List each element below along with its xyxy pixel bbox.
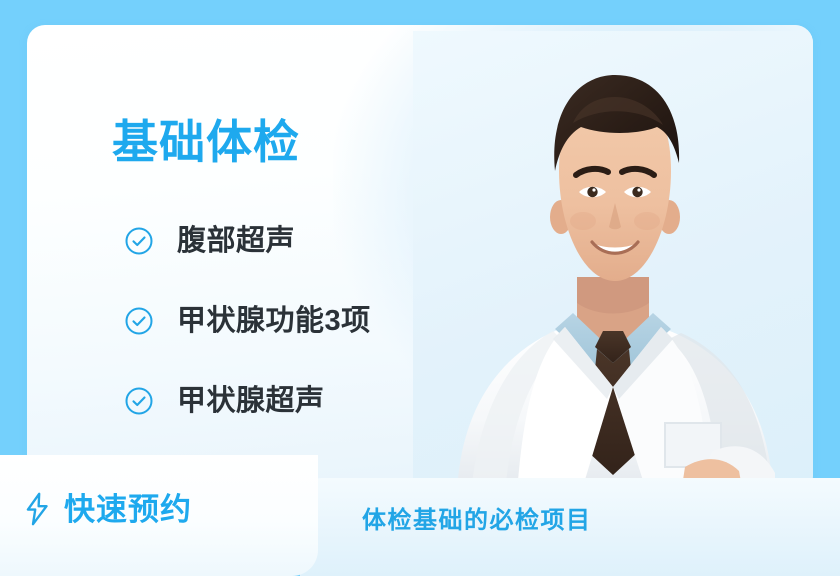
doctor-portrait xyxy=(413,31,813,493)
list-item: 甲状腺功能3项 xyxy=(124,295,371,347)
list-item: 腹部超声 xyxy=(124,215,371,267)
lightning-bolt-icon xyxy=(24,492,51,526)
quick-booking-panel[interactable]: 快速预约 xyxy=(0,455,318,576)
check-circle-icon xyxy=(124,306,154,336)
feature-list: 腹部超声 甲状腺功能3项 甲状腺超声 xyxy=(124,215,371,427)
check-circle-icon xyxy=(124,386,154,416)
quick-booking-content: 快速预约 xyxy=(24,492,192,526)
list-item-label: 甲状腺功能3项 xyxy=(177,307,371,336)
list-item: 甲状腺超声 xyxy=(124,375,371,427)
check-circle-icon xyxy=(124,226,154,256)
promo-poster: 基础体检 腹部超声 甲状腺功能3项 xyxy=(0,0,840,576)
list-item-label: 甲状腺超声 xyxy=(177,387,325,416)
footer-tagline: 体检基础的必检项目 xyxy=(362,509,592,533)
doctor-illustration xyxy=(413,31,813,493)
list-item-label: 腹部超声 xyxy=(177,227,295,256)
poster-card: 基础体检 腹部超声 甲状腺功能3项 xyxy=(27,25,813,493)
footer-tagline-panel: 体检基础的必检项目 xyxy=(300,478,840,576)
page-title: 基础体检 xyxy=(112,119,300,165)
quick-booking-label: 快速预约 xyxy=(64,494,192,525)
